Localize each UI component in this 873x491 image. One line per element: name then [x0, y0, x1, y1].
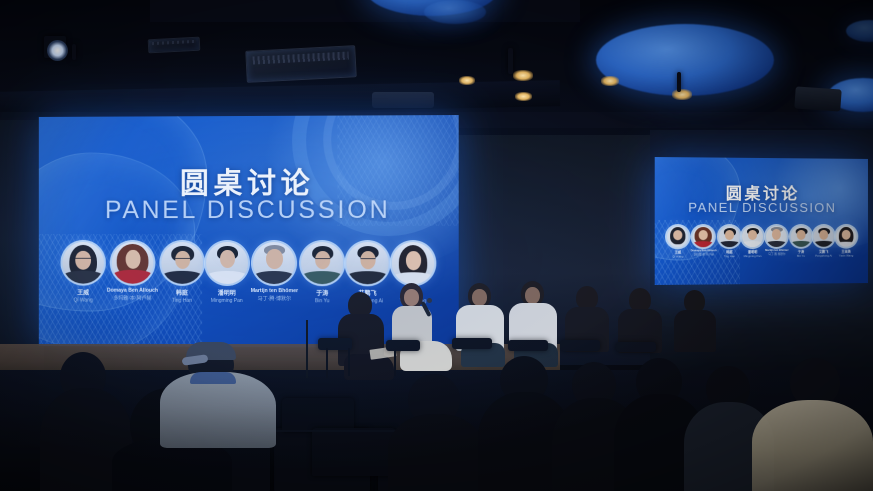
warm-spotlight [459, 76, 475, 85]
avatar [253, 242, 295, 284]
ceiling-truss-upper [150, 0, 580, 22]
spotlight [47, 40, 68, 61]
panelist-name-cn: 王威 [77, 288, 89, 297]
mic-stand [306, 320, 308, 378]
panelist-card: 韩庭 Ting Han [719, 226, 740, 258]
light-rail [508, 48, 513, 74]
avatar [719, 226, 740, 247]
panelist-name-en: 马丁·腾·博默尔 [768, 252, 785, 256]
panelist-card: 王威 Qi Wang [667, 226, 688, 258]
panelist-name-cn: Domaya Ben Allouch [107, 288, 158, 294]
audience-body [388, 414, 484, 491]
chair-leg [326, 348, 328, 378]
light-fixture-arm [72, 44, 76, 60]
hvac-vent-small [148, 37, 201, 54]
stage-chair [386, 340, 420, 351]
panelist-card: 王威 Qi Wang [62, 242, 103, 304]
panelist-name-en: Qi Wang [74, 298, 93, 304]
stage-chair [560, 340, 600, 351]
warm-spotlight [601, 76, 619, 86]
avatar [742, 226, 763, 247]
chair-leg [394, 350, 396, 376]
panelist-name-en: Pengsheng Ai [815, 254, 832, 258]
avatar [836, 226, 856, 247]
seat-back [282, 398, 354, 432]
chair-leg [348, 348, 350, 376]
side-panelist-portrait-row: 王威 Qi Wang Domaya Ben Allouch 多玛雅·本·阿卢赫 [667, 226, 856, 259]
microphone-head [427, 298, 432, 303]
panelist-white-shirt [508, 281, 560, 367]
stage-chair [318, 338, 352, 350]
panelist-card: 潘明明 Mingming Pan [206, 242, 248, 304]
panelist-card: 潘明明 Mingming Pan [742, 226, 763, 258]
ceiling-projector [372, 92, 434, 108]
ceiling-disc [846, 20, 873, 42]
panelist-name-cn: Martijn ten Bhömer [251, 288, 298, 294]
stage-chair [452, 338, 492, 349]
hvac-vent [245, 45, 357, 83]
panelist-dark-shirt [616, 288, 666, 368]
auditorium-scene: 圆桌讨论 PANEL DISCUSSION 王威 Qi Wang [0, 0, 873, 491]
panelist-name-en: Ting Han [724, 254, 735, 258]
panelist-card: 艾鹏飞 Pengsheng Ai [813, 226, 834, 258]
panelist-name-en: 马丁·腾·博默尔 [258, 295, 291, 302]
panelist-card: Martijn ten Bhömer 马丁·腾·博默尔 [251, 242, 298, 304]
panelist-name-en: 多玛雅·本·阿卢赫 [694, 252, 714, 256]
panelist-card: 王亚美 Yaxin Wang [836, 226, 856, 258]
side-presentation-screen: 圆桌讨论 PANEL DISCUSSION 王威 Qi Wang [655, 157, 868, 285]
panelist-name-en: Mingming Pan [211, 298, 243, 304]
light-rail [677, 72, 681, 92]
avatar [206, 242, 248, 284]
side-slide-title-en: PANEL DISCUSSION [655, 200, 868, 215]
ceiling-disc [424, 0, 486, 24]
avatar [667, 226, 688, 247]
panelist-dark-shirt [563, 286, 613, 368]
audience-body-cream-shirt [752, 400, 873, 491]
panelist-name-en: 多玛雅·本·阿卢赫 [113, 295, 151, 302]
warm-spotlight [513, 70, 533, 81]
panelist-name-en: Mingming Pan [744, 254, 762, 258]
panelist-name-cn: 潘明明 [218, 288, 236, 297]
avatar [62, 242, 103, 284]
avatar [346, 242, 388, 284]
avatar [392, 242, 435, 284]
slide-title-en: PANEL DISCUSSION [39, 196, 459, 225]
panelist-card: 韩庭 Ting Han [161, 242, 203, 304]
ceiling-camera [794, 86, 841, 111]
avatar [693, 226, 714, 247]
ceiling-disc [596, 24, 774, 96]
panelist-card: 于涛 Bin Yu [791, 226, 812, 258]
panelist-name-en: Ting Han [172, 298, 192, 304]
avatar [112, 242, 154, 284]
avatar [301, 242, 343, 284]
avatar [813, 226, 834, 247]
panelist-name-en: Yaxin Wang [839, 254, 853, 258]
speaker-face [404, 289, 419, 306]
panelist-card: Martijn ten Bhömer 马丁·腾·博默尔 [765, 226, 788, 258]
panelist-far-right [672, 290, 720, 368]
avatar [791, 226, 812, 247]
jacket-collar [190, 372, 236, 384]
panelist-speaker [386, 283, 456, 385]
warm-spotlight [672, 89, 692, 100]
warm-spotlight [515, 92, 532, 101]
panelist-card: Domaya Ben Allouch 多玛雅·本·阿卢赫 [107, 242, 158, 304]
panelist-name-en: Qi Wang [672, 254, 683, 258]
stage-chair [616, 342, 656, 352]
panelist-white-shirt [455, 283, 507, 367]
panelist-name-en: Bin Yu [797, 254, 805, 258]
seat-back [312, 428, 396, 476]
stage-chair [508, 340, 548, 351]
panelist-name-en: Bin Yu [315, 298, 329, 304]
avatar [161, 242, 203, 284]
panelist-name-cn: 韩庭 [176, 288, 188, 297]
panelist-name-cn: 于涛 [316, 288, 328, 297]
avatar [766, 226, 787, 247]
seat-rail [258, 430, 398, 432]
panelist-card: Domaya Ben Allouch 多玛雅·本·阿卢赫 [691, 226, 717, 258]
